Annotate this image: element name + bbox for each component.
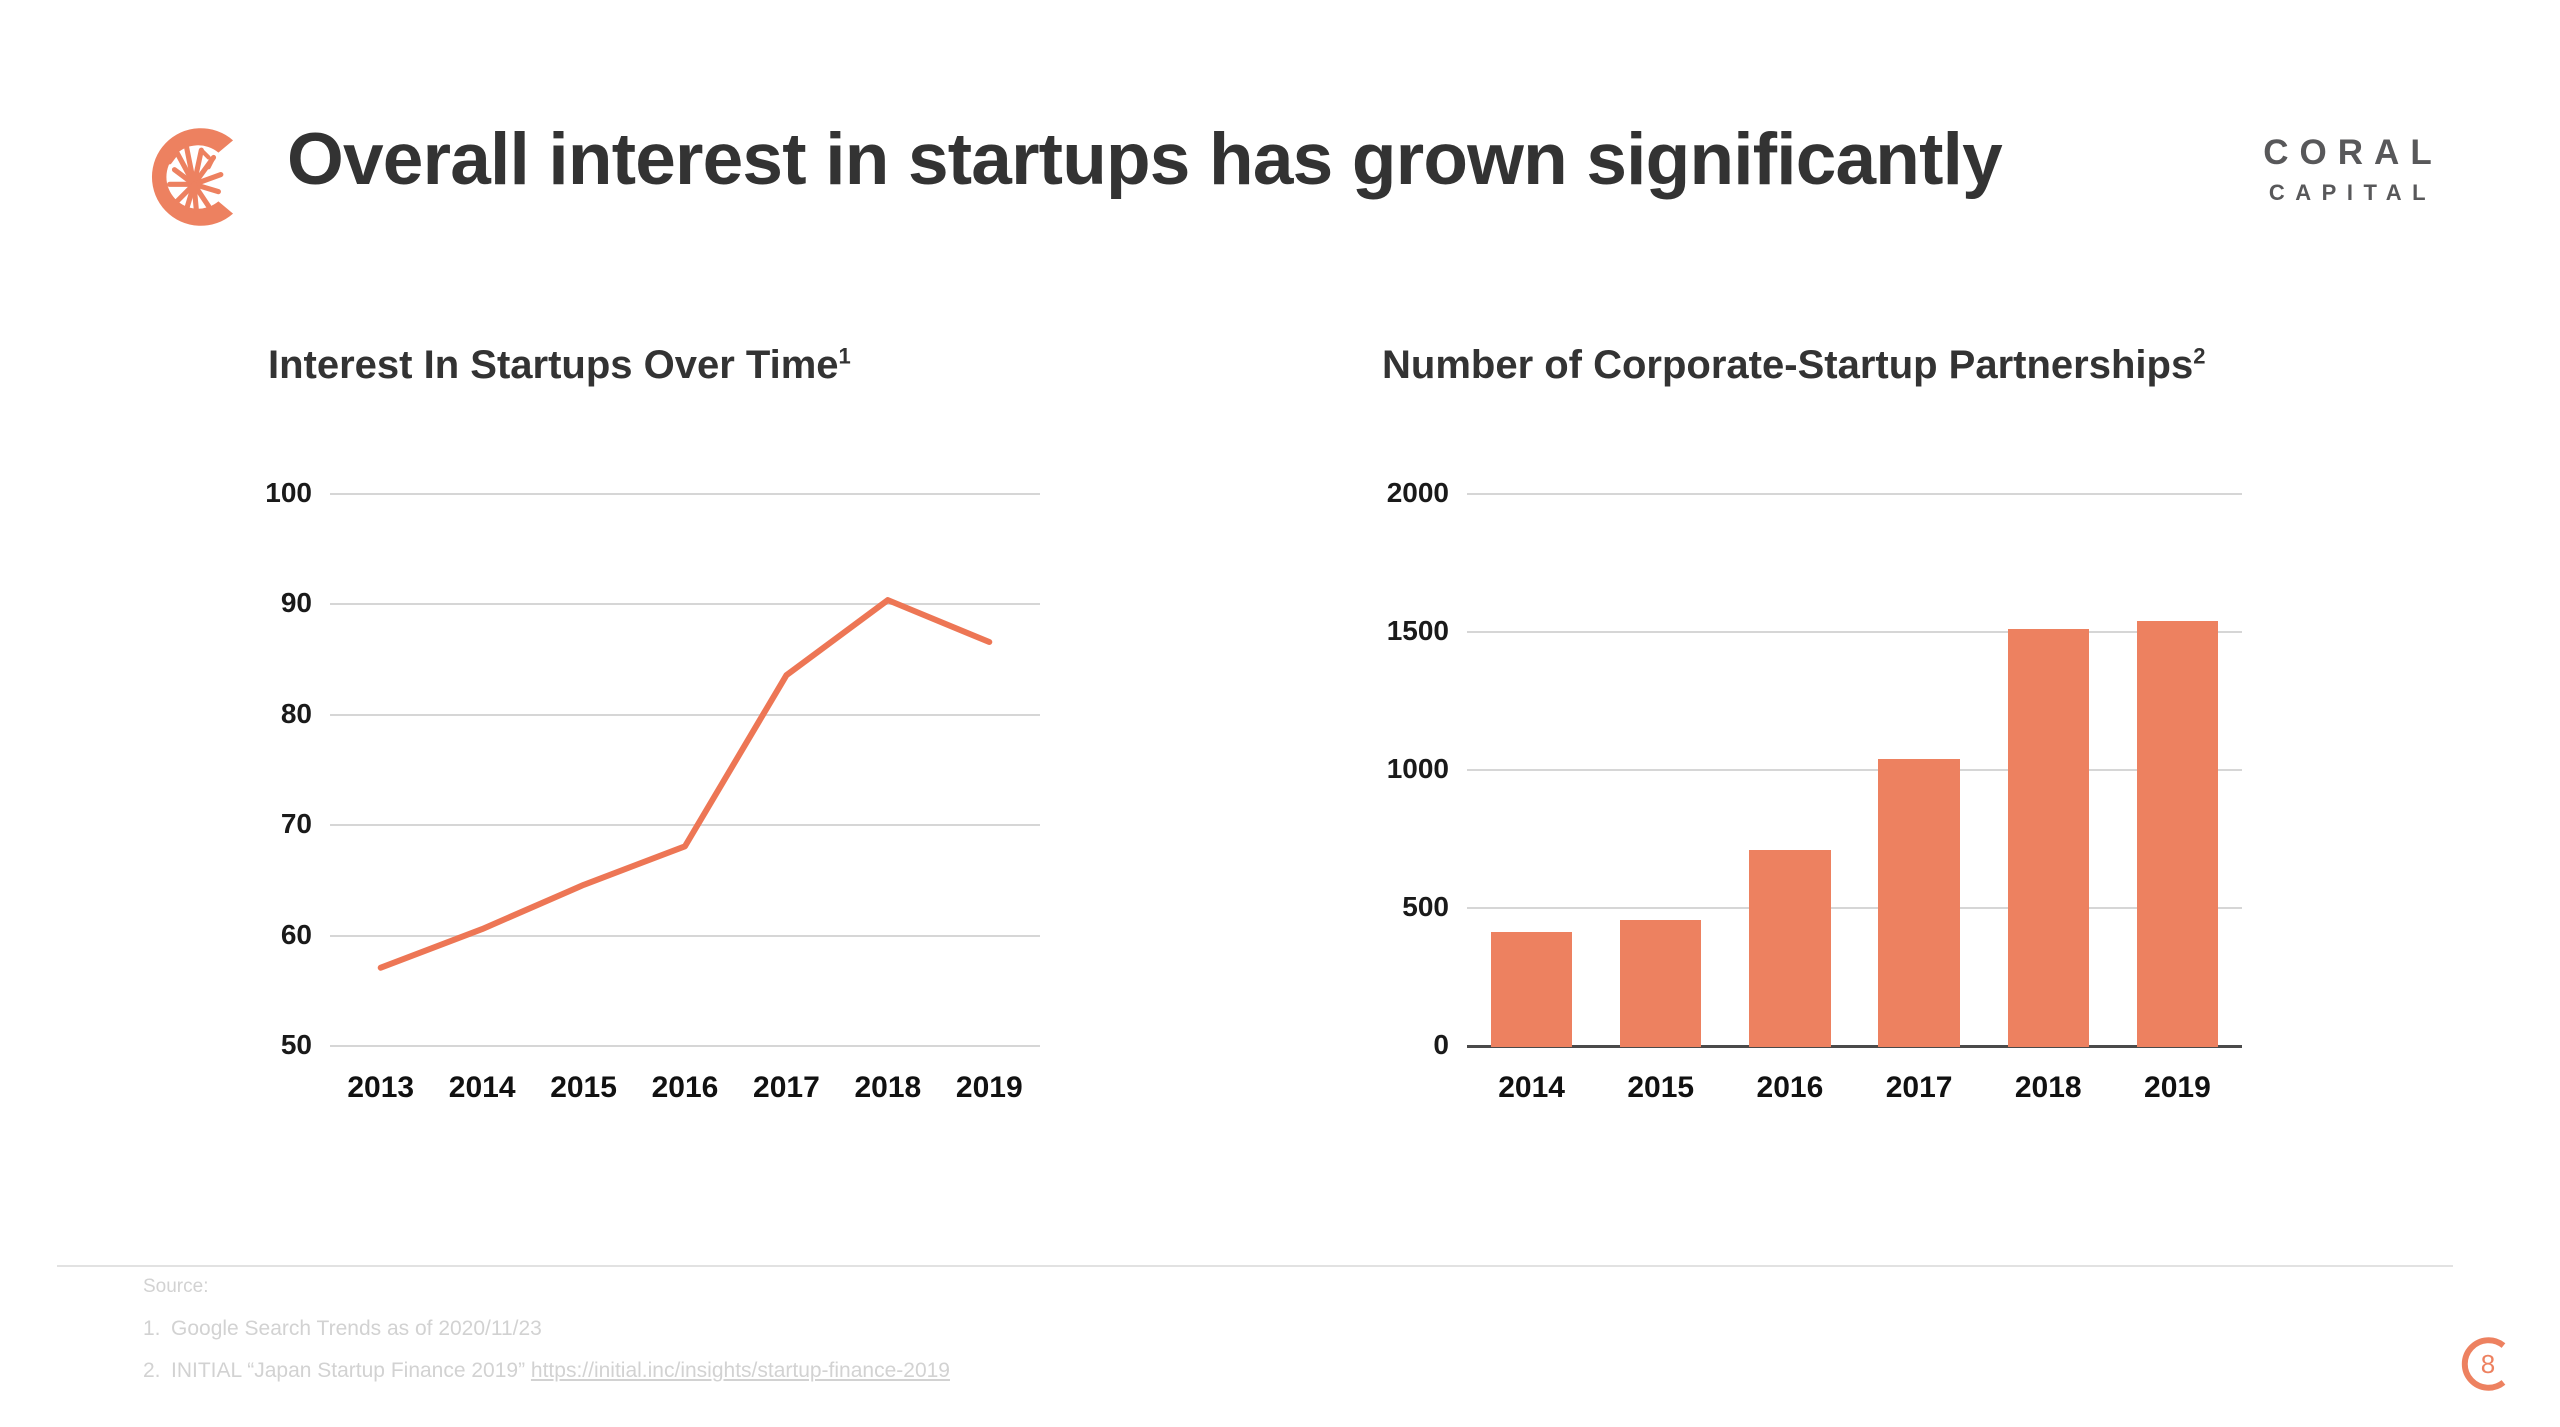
x-axis-label: 2016 [1757,1073,1824,1103]
chart-title-right: Number of Corporate-Startup Partnerships… [1382,345,2382,385]
slide-header: Overall interest in startups has grown s… [0,0,2560,260]
chart-title-right-footnote: 2 [2193,344,2205,369]
y-axis-label: 1500 [1387,617,1449,645]
source-item-2-text: INITIAL “Japan Startup Finance 2019” [171,1359,531,1382]
y-axis-label: 500 [1402,893,1449,921]
y-axis-label: 2000 [1387,479,1449,507]
y-axis-label: 1000 [1387,755,1449,783]
bar [1878,759,1959,1047]
gridline [1467,631,2242,633]
line-series [268,485,1098,1135]
bar-chart: 0500100015002000201420152016201720182019 [1382,485,2242,1135]
wordmark-capital: CAPITAL [2240,182,2455,204]
bar [1491,932,1572,1047]
gridline [1467,769,2242,771]
x-axis-label: 2019 [2144,1073,2211,1103]
source-notes: Source: 1.Google Search Trends as of 202… [143,1277,1743,1402]
source-label: Source: [143,1277,1743,1296]
x-axis-label: 2018 [2015,1073,2082,1103]
gridline [1467,907,2242,909]
chart-title-left-footnote: 1 [839,344,851,369]
source-item-2-number: 2. [143,1360,171,1381]
y-axis-label: 0 [1433,1031,1449,1059]
page-title: Overall interest in startups has grown s… [287,123,2002,196]
x-axis-label: 2014 [1498,1073,1565,1103]
wordmark-coral: CORAL [2240,135,2455,170]
source-item-2: 2.INITIAL “Japan Startup Finance 2019” h… [143,1360,1743,1381]
x-axis-baseline [1467,1045,2242,1048]
bar [2008,629,2089,1047]
page-number-badge: 8 [2452,1331,2518,1397]
bar [1749,850,1830,1047]
chart-title-right-text: Number of Corporate-Startup Partnerships [1382,343,2193,387]
footer-divider [57,1265,2453,1267]
source-item-1-text: Google Search Trends as of 2020/11/23 [171,1317,542,1340]
bar [1620,920,1701,1047]
line-chart: 5060708090100201320142015201620172018201… [268,485,1098,1135]
coral-c-logo-icon [133,116,255,238]
panel-interest-over-time: Interest In Startups Over Time1 50607080… [268,345,1268,385]
source-item-1: 1.Google Search Trends as of 2020/11/23 [143,1318,1743,1339]
chart-title-left-text: Interest In Startups Over Time [268,343,839,387]
bar [2137,621,2218,1047]
source-item-1-number: 1. [143,1318,171,1339]
gridline [1467,493,2242,495]
panel-corporate-partnerships: Number of Corporate-Startup Partnerships… [1382,345,2382,385]
x-axis-label: 2017 [1886,1073,1953,1103]
coral-capital-wordmark: CORAL CAPITAL [2240,135,2455,204]
chart-title-left: Interest In Startups Over Time1 [268,345,1268,385]
source-item-2-link[interactable]: https://initial.inc/insights/startup-fin… [531,1359,950,1382]
x-axis-label: 2015 [1627,1073,1694,1103]
page-number: 8 [2452,1331,2518,1397]
